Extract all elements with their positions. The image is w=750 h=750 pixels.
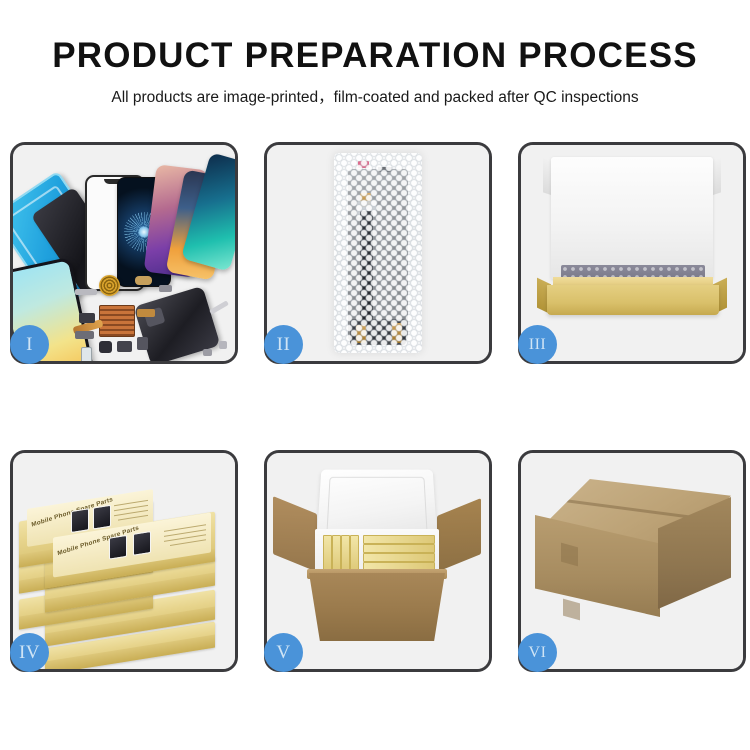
badge-step-3: III <box>518 325 557 364</box>
yellow-box-icon <box>341 535 350 573</box>
badge-step-2: II <box>264 325 303 364</box>
process-step-panel-2: II <box>264 142 492 364</box>
spare-part-icon <box>137 337 148 350</box>
label-screen-thumbnail-icon <box>71 508 89 533</box>
yellow-box-icon <box>323 535 332 573</box>
spare-part-icon <box>137 309 155 317</box>
step-4-image: Mobile Phone Spare Parts Mobile Phone Sp… <box>13 453 235 669</box>
page-subtitle: All products are image-printed，film-coat… <box>0 73 750 106</box>
spare-part-icon <box>79 313 95 323</box>
process-step-panel-6: VI <box>518 450 746 672</box>
step-1-image <box>13 145 235 361</box>
yellow-box-icon <box>363 553 435 562</box>
kraft-tray-front-icon <box>547 285 719 315</box>
step-6-image <box>521 453 743 669</box>
badge-step-5: V <box>264 633 303 672</box>
spare-part-icon <box>135 276 152 285</box>
spare-part-icon <box>203 349 212 356</box>
label-line-icon <box>118 515 148 521</box>
box-stack-icon: Mobile Phone Spare Parts Mobile Phone Sp… <box>19 469 231 655</box>
page-title: PRODUCT PREPARATION PROCESS <box>0 0 750 73</box>
process-step-panel-4: Mobile Phone Spare Parts Mobile Phone Sp… <box>10 450 238 672</box>
label-screen-thumbnail-icon <box>109 535 127 560</box>
yellow-box-icon <box>350 535 359 573</box>
spare-part-icon <box>219 341 227 349</box>
badge-step-4: IV <box>10 633 49 672</box>
step-3-image <box>521 145 743 361</box>
spare-part-icon <box>75 331 94 339</box>
chip-array-part-icon <box>99 305 135 337</box>
step-2-image <box>267 145 489 361</box>
process-step-panel-5: V <box>264 450 492 672</box>
yellow-box-icon <box>363 535 435 544</box>
badge-step-1: I <box>10 325 49 364</box>
badge-step-6: VI <box>518 633 557 672</box>
yellow-box-icon <box>363 544 435 553</box>
spare-part-icon <box>99 341 112 353</box>
spare-part-icon <box>75 289 97 295</box>
yellow-box-icon <box>332 535 341 573</box>
process-step-panel-1: I <box>10 142 238 364</box>
spare-part-icon <box>117 341 132 352</box>
carton-left-flap-icon <box>273 496 317 572</box>
carton-right-flap-icon <box>437 498 481 572</box>
bubble-texture-icon <box>334 153 422 353</box>
spare-part-icon <box>81 347 92 361</box>
gold-coil-part-icon <box>99 275 120 296</box>
spare-part-icon <box>209 300 229 314</box>
product-preparation-infographic: PRODUCT PREPARATION PROCESS All products… <box>0 0 750 750</box>
label-screen-thumbnail-icon <box>133 531 151 556</box>
carton-tape-mark-icon <box>563 599 580 621</box>
carton-body-icon <box>309 573 445 641</box>
bubble-wrap-bag-icon <box>334 153 422 353</box>
header: PRODUCT PREPARATION PROCESS All products… <box>0 0 750 106</box>
spare-part-icon <box>159 285 172 292</box>
process-step-panel-3: III <box>518 142 746 364</box>
white-box-lid-icon <box>551 157 713 279</box>
step-5-image <box>267 453 489 669</box>
process-step-grid: I II <box>10 142 742 672</box>
label-screen-thumbnail-icon <box>93 505 111 530</box>
